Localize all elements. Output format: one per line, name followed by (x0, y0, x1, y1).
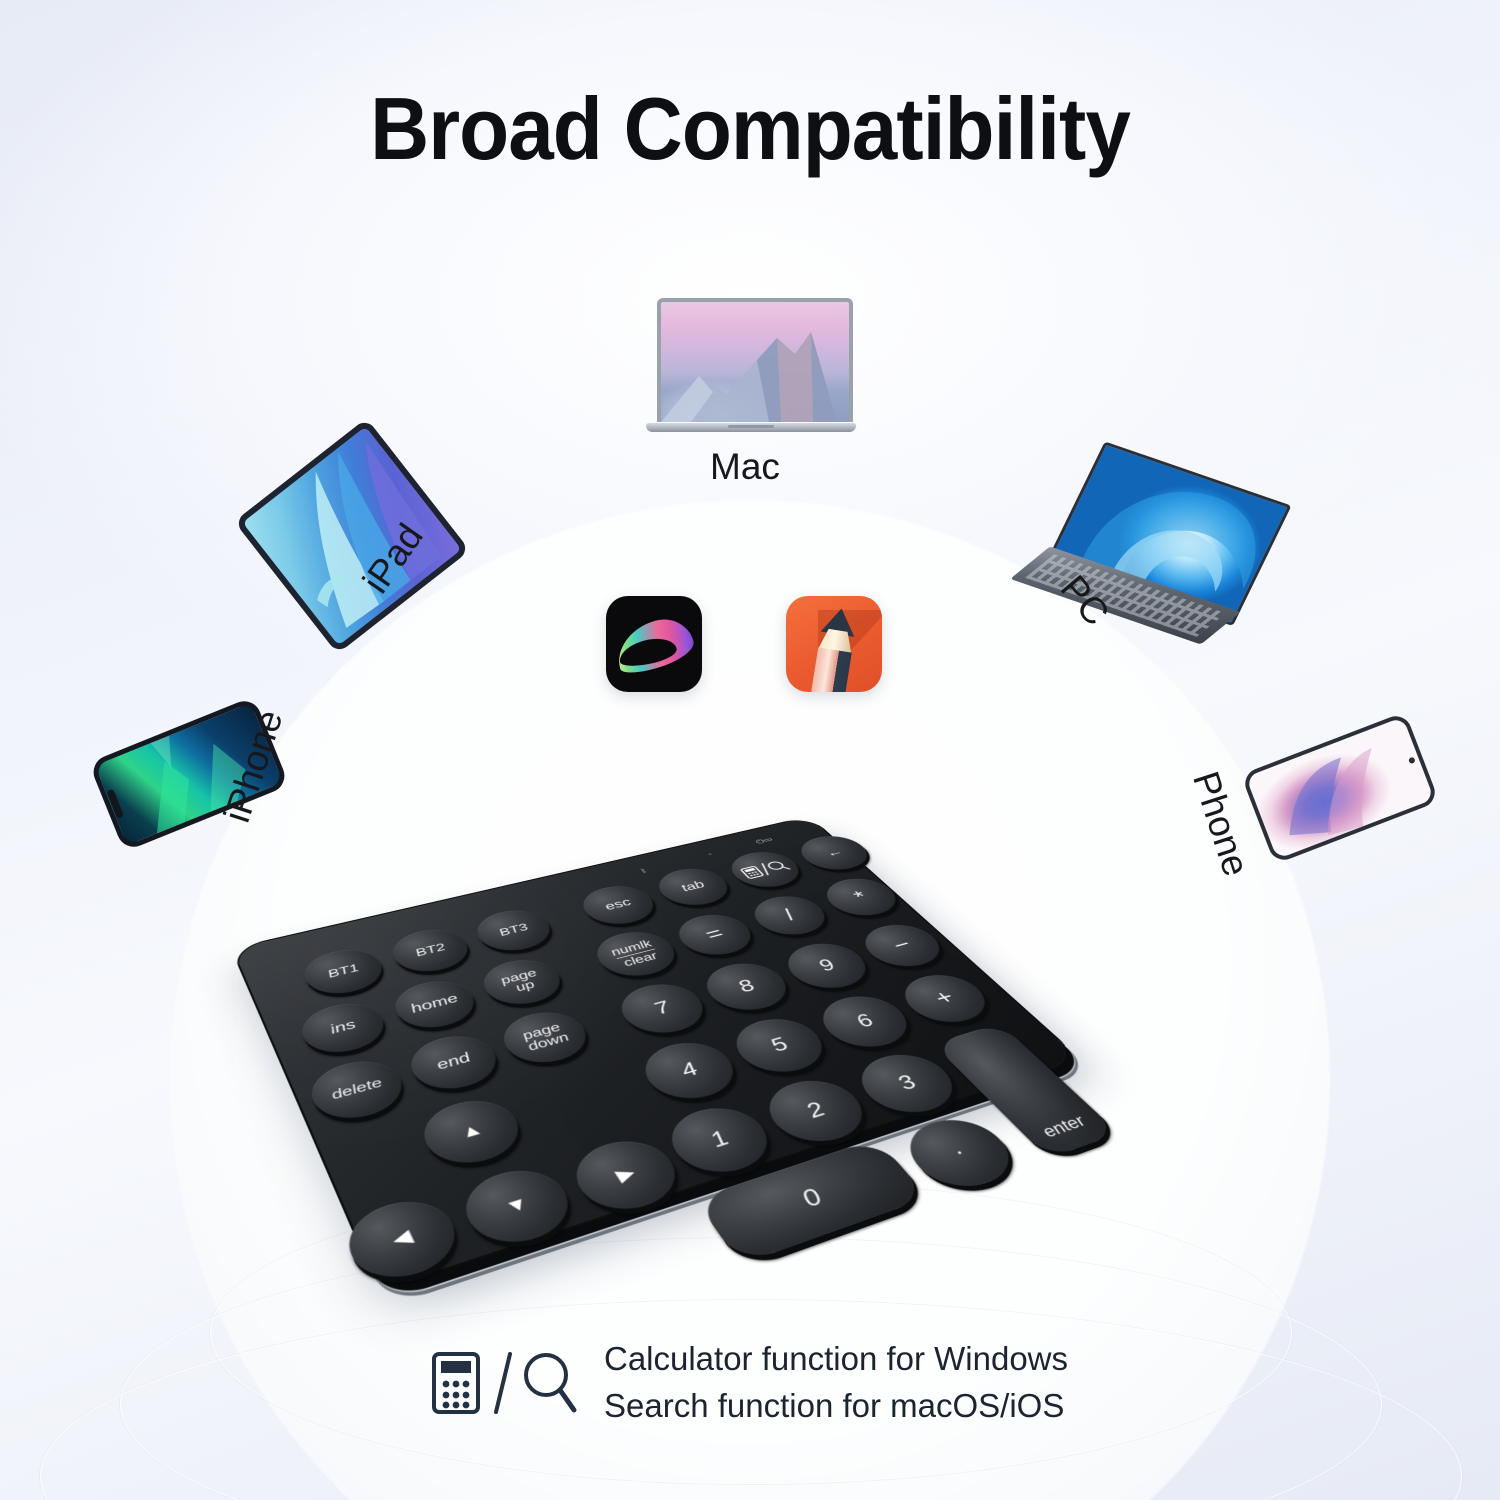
caption-line-1: Calculator function for Windows (604, 1336, 1068, 1383)
key-equals[interactable]: = (667, 909, 763, 961)
wireless-numeric-keypad: ᛒ ◦ ⏻▭ BT1 BT2 BT3 esc tab (233, 817, 1080, 1289)
key-multiply[interactable]: * (815, 873, 909, 921)
procreate-brush-stroke (610, 612, 698, 678)
pencil-body (811, 647, 852, 692)
caption-line-2: Search function for macOS/iOS (604, 1383, 1068, 1430)
key-numlock-clear[interactable]: numlk clear (586, 926, 687, 983)
key-backspace[interactable]: ← (790, 831, 879, 875)
marketing-image: Broad Compatibility Mac iPad (0, 0, 1500, 1500)
key-minus[interactable]: − (852, 919, 953, 973)
numlk-divider (616, 948, 655, 958)
caption-icon-group (432, 1350, 578, 1416)
key-calculator-search[interactable] (720, 847, 810, 893)
slash-separator (492, 1350, 514, 1416)
battery-led: ◦ (703, 851, 718, 859)
key-esc[interactable]: esc (573, 881, 665, 930)
macbook-laptop-icon (657, 298, 853, 422)
key-divide[interactable]: / (743, 891, 838, 941)
key-tab[interactable]: tab (648, 863, 739, 910)
sketchbook-app-icon (786, 596, 882, 692)
calculator-icon (432, 1352, 484, 1414)
device-android (1241, 712, 1440, 865)
android-smartphone-icon (1241, 712, 1440, 865)
procreate-app-icon (606, 596, 702, 692)
caption-text-block: Calculator function for Windows Search f… (604, 1336, 1068, 1430)
keyboard-scene: ᛒ ◦ ⏻▭ BT1 BT2 BT3 esc tab (296, 742, 1126, 1302)
magnifier-icon (522, 1350, 578, 1416)
key-9[interactable]: 9 (775, 937, 880, 995)
power-battery-icon: ⏻▭ (757, 837, 772, 844)
device-label-mac: Mac (710, 446, 780, 488)
page-title: Broad Compatibility (53, 78, 1448, 180)
bluetooth-led: ᛒ (636, 867, 651, 875)
key-bt2[interactable]: BT2 (384, 924, 477, 979)
device-mac (646, 298, 856, 438)
feature-caption: Calculator function for Windows Search f… (0, 1336, 1500, 1430)
key-bt3[interactable]: BT3 (468, 905, 561, 957)
calculator-search-glyph (739, 859, 791, 880)
macbook-notch (728, 425, 774, 428)
